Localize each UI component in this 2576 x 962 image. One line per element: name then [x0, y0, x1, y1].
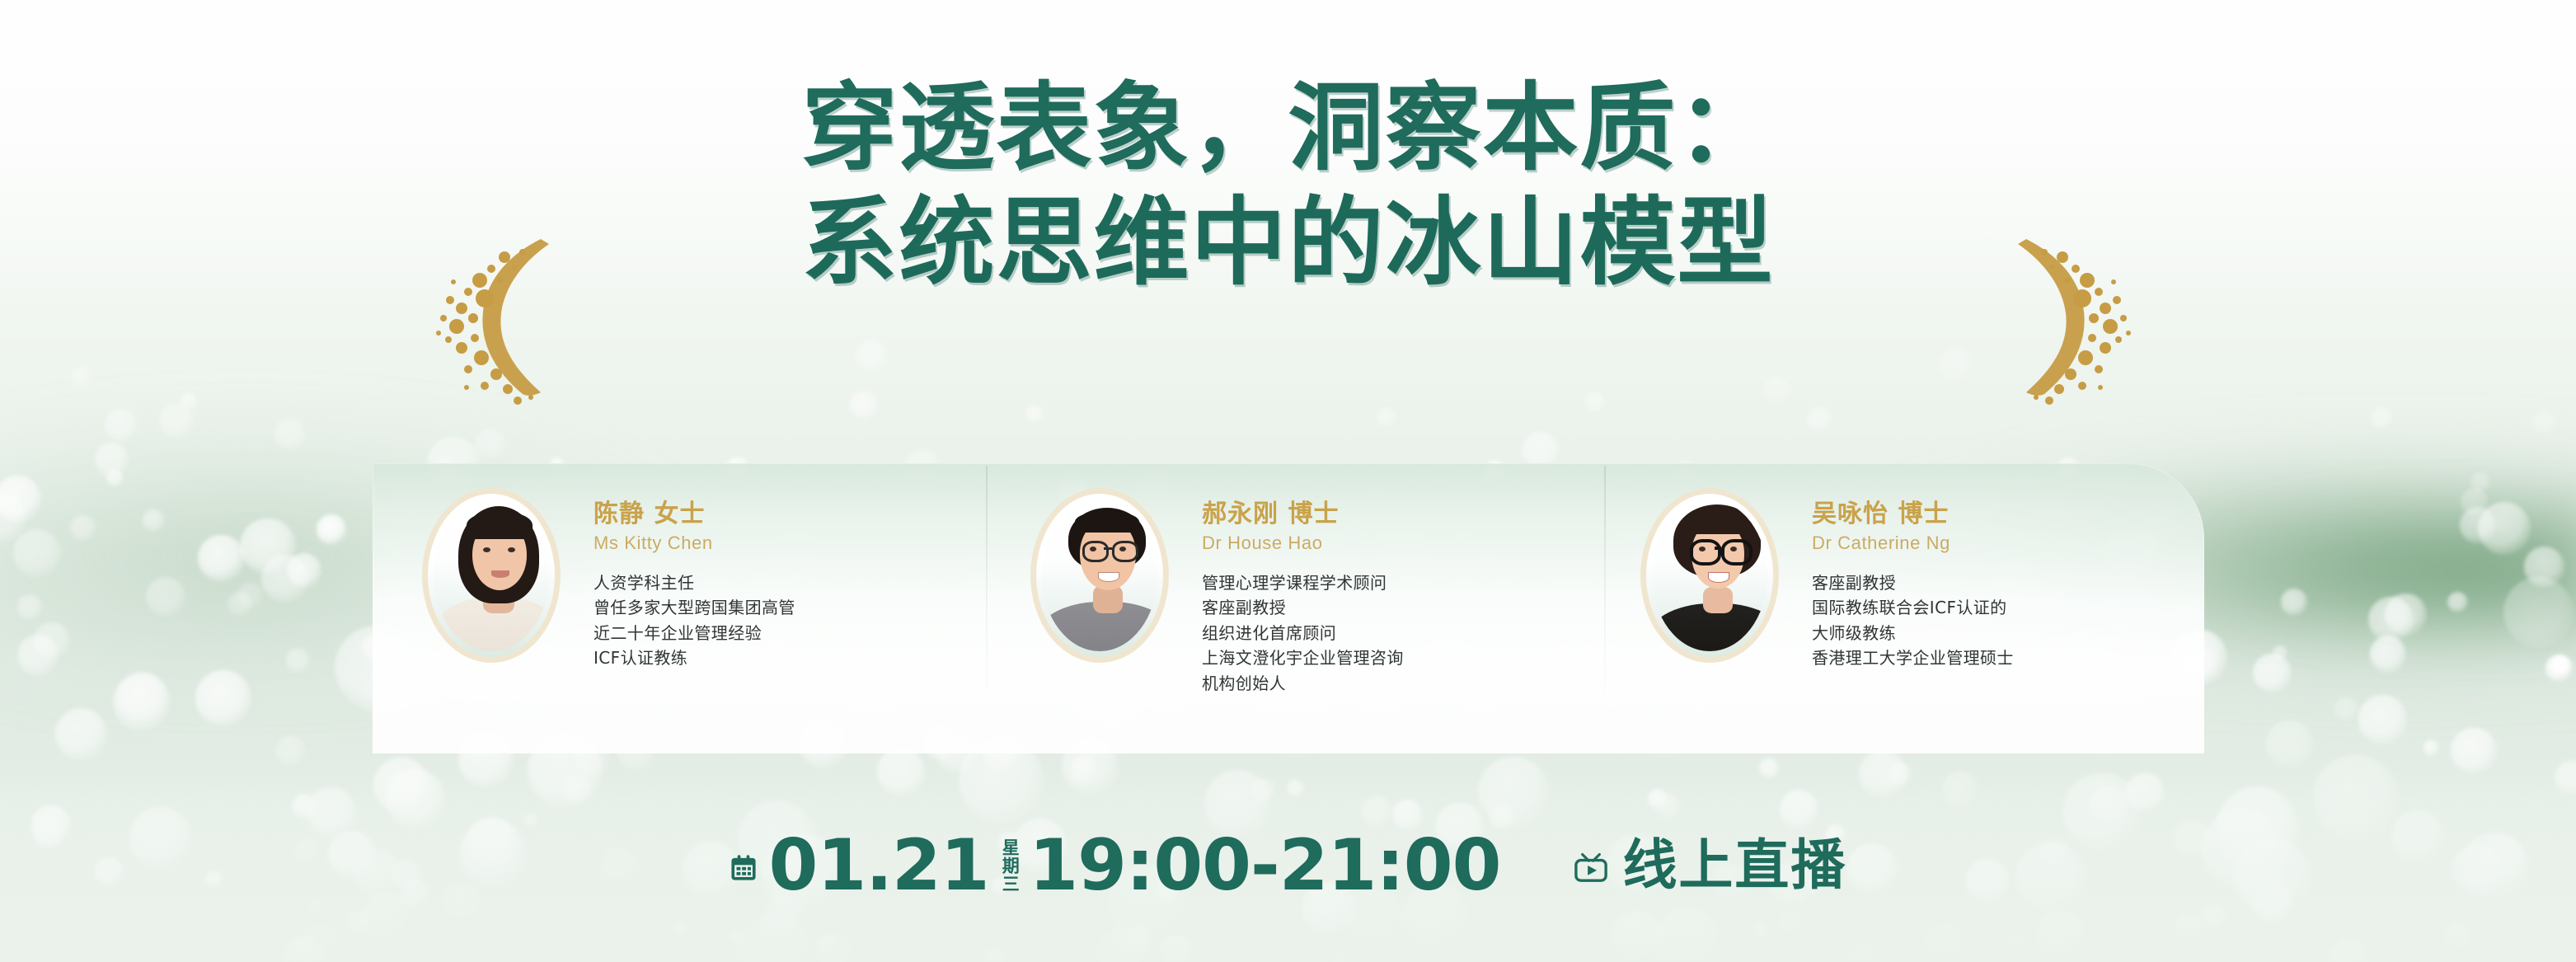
bio-line: 国际教练联合会ICF认证的 [1812, 595, 2014, 620]
bio-line: 管理心理学课程学术顾问 [1202, 570, 1404, 595]
speaker-bio: 人资学科主任 曾任多家大型跨国集团高管 近二十年企业管理经验 ICF认证教练 [594, 570, 795, 671]
speaker-info: 吴咏怡 博士 Dr Catherine Ng 客座副教授 国际教练联合会ICF认… [1779, 481, 2014, 671]
bio-line: 客座副教授 [1812, 570, 2014, 595]
broadcast-channel: 线上直播 [1622, 838, 1846, 893]
avatar [422, 488, 561, 663]
speaker-bio: 客座副教授 国际教练联合会ICF认证的 大师级教练 香港理工大学企业管理硕士 [1812, 570, 2014, 671]
bio-line: 人资学科主任 [594, 570, 795, 595]
event-weekday: 星期三 [1001, 838, 1020, 893]
speaker-name-en: Ms Kitty Chen [594, 533, 795, 554]
speaker-name-cn: 陈静 女士 [594, 493, 795, 529]
webinar-poster: 穿透表象，洞察本质： 系统思维中的冰山模型 [0, 0, 2576, 962]
speaker-name-en: Dr Catherine Ng [1812, 533, 2014, 554]
speaker-card[interactable]: 郝永刚 博士 Dr House Hao 管理心理学课程学术顾问 客座副教授 组织… [986, 463, 1594, 753]
bio-line: 客座副教授 [1202, 595, 1404, 620]
avatar-ring [1030, 488, 1169, 663]
poster-title: 穿透表象，洞察本质： 系统思维中的冰山模型 [0, 79, 2576, 293]
bio-line: 近二十年企业管理经验 [594, 621, 795, 645]
avatar-ring [1640, 488, 1779, 663]
avatar-photo [434, 500, 549, 651]
title-line-2: 系统思维中的冰山模型 [0, 194, 2576, 293]
bio-line: 大师级教练 [1812, 621, 2014, 645]
date-block: 01.21 星期三 19:00-21:00 [730, 830, 1501, 901]
tv-play-icon [1573, 851, 1609, 884]
avatar [1030, 488, 1169, 663]
avatar-photo [1652, 500, 1767, 651]
bio-line: ICF认证教练 [594, 645, 795, 670]
avatar-photo [1042, 500, 1157, 651]
speaker-info: 陈静 女士 Ms Kitty Chen 人资学科主任 曾任多家大型跨国集团高管 … [561, 481, 795, 671]
event-time: 19:00-21:00 [1029, 830, 1500, 901]
event-footer: 01.21 星期三 19:00-21:00 线上直播 [0, 816, 2576, 915]
speaker-bio: 管理心理学课程学术顾问 客座副教授 组织进化首席顾问 上海文澄化宇企业管理咨询 … [1202, 570, 1404, 696]
speaker-name-en: Dr House Hao [1202, 533, 1404, 554]
bio-line: 香港理工大学企业管理硕士 [1812, 645, 2014, 670]
calendar-icon [730, 854, 758, 882]
bio-line: 组织进化首席顾问 [1202, 621, 1404, 645]
title-line-1: 穿透表象，洞察本质： [0, 79, 2576, 179]
speakers-list: 陈静 女士 Ms Kitty Chen 人资学科主任 曾任多家大型跨国集团高管 … [373, 463, 2204, 753]
avatar [1640, 488, 1779, 663]
bio-line: 机构创始人 [1202, 671, 1404, 696]
speaker-name-cn: 吴咏怡 博士 [1812, 493, 2014, 529]
bio-line: 曾任多家大型跨国集团高管 [594, 595, 795, 620]
speaker-card[interactable]: 陈静 女士 Ms Kitty Chen 人资学科主任 曾任多家大型跨国集团高管 … [373, 463, 986, 753]
event-date: 01.21 [769, 830, 989, 901]
speaker-info: 郝永刚 博士 Dr House Hao 管理心理学课程学术顾问 客座副教授 组织… [1169, 481, 1404, 696]
bio-line: 上海文澄化宇企业管理咨询 [1202, 645, 1404, 670]
speaker-card[interactable]: 吴咏怡 博士 Dr Catherine Ng 客座副教授 国际教练联合会ICF认… [1594, 463, 2204, 753]
speaker-name-cn: 郝永刚 博士 [1202, 493, 1404, 529]
avatar-ring [422, 488, 561, 663]
channel-block: 线上直播 [1573, 838, 1846, 893]
